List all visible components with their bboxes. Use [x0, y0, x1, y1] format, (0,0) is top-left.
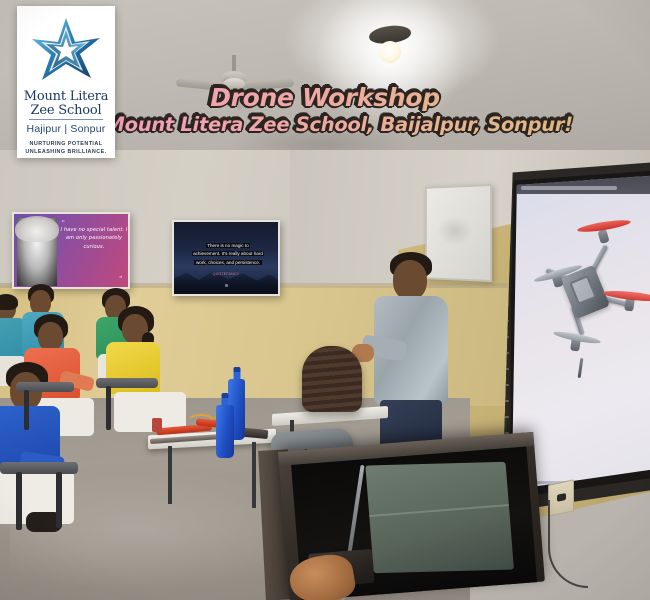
poster-logo-mark: [225, 284, 228, 287]
school-logo-card: Mount Litera Zee School Hajipur | Sonpur…: [17, 6, 115, 158]
chair-leg: [24, 390, 29, 430]
ceiling-lamp-icon: [355, 26, 425, 90]
logo-divider: [29, 119, 103, 120]
presenter: [374, 252, 454, 462]
einstein-quote-poster: “ I have no special talent. I am only pa…: [12, 212, 130, 289]
tagline-line2: UNLEASHING BRILLIANCE.: [25, 149, 106, 155]
school-tagline: NURTURING POTENTIAL UNLEASHING BRILLIANC…: [17, 140, 115, 157]
school-name-line2: Zee School: [31, 103, 102, 118]
student-chair-3: [0, 462, 78, 474]
achievement-quote-line3: work, choices, and persistence.: [194, 260, 261, 265]
tagline-line1: NURTURING POTENTIAL: [30, 141, 103, 147]
water-bottle-2: [216, 398, 234, 458]
student-blue-front: [0, 366, 84, 546]
chair-leg: [16, 472, 22, 530]
school-branch: Hajipur | Sonpur: [17, 123, 115, 135]
star-icon: [30, 16, 102, 91]
achievement-quote-line1: There is no magic to: [206, 243, 251, 248]
office-chair: [300, 346, 364, 436]
table-leg: [168, 446, 172, 504]
table-leg: [252, 442, 256, 508]
ceiling-fan-icon: [196, 55, 272, 101]
event-photo-canvas: “ I have no special talent. I am only pa…: [0, 0, 650, 600]
chair-leg: [106, 386, 111, 430]
school-name: Mount Litera Zee School: [17, 90, 115, 118]
achievement-quote-line2: achievement. It's really about hard: [192, 251, 265, 256]
achievement-quote-poster: There is no magic to achievement. It's r…: [172, 220, 280, 296]
einstein-quote-text: I have no special talent. I am only pass…: [60, 226, 128, 251]
drone-kit-on-table: [150, 414, 280, 442]
school-name-line1: Mount Litera: [24, 89, 109, 104]
power-cable: [548, 500, 588, 588]
chair-leg: [56, 472, 62, 528]
poster-attribution: QUOTEFANCY: [174, 272, 278, 276]
close-quote-glyph: ”: [119, 275, 122, 284]
drone-image: [519, 212, 650, 392]
